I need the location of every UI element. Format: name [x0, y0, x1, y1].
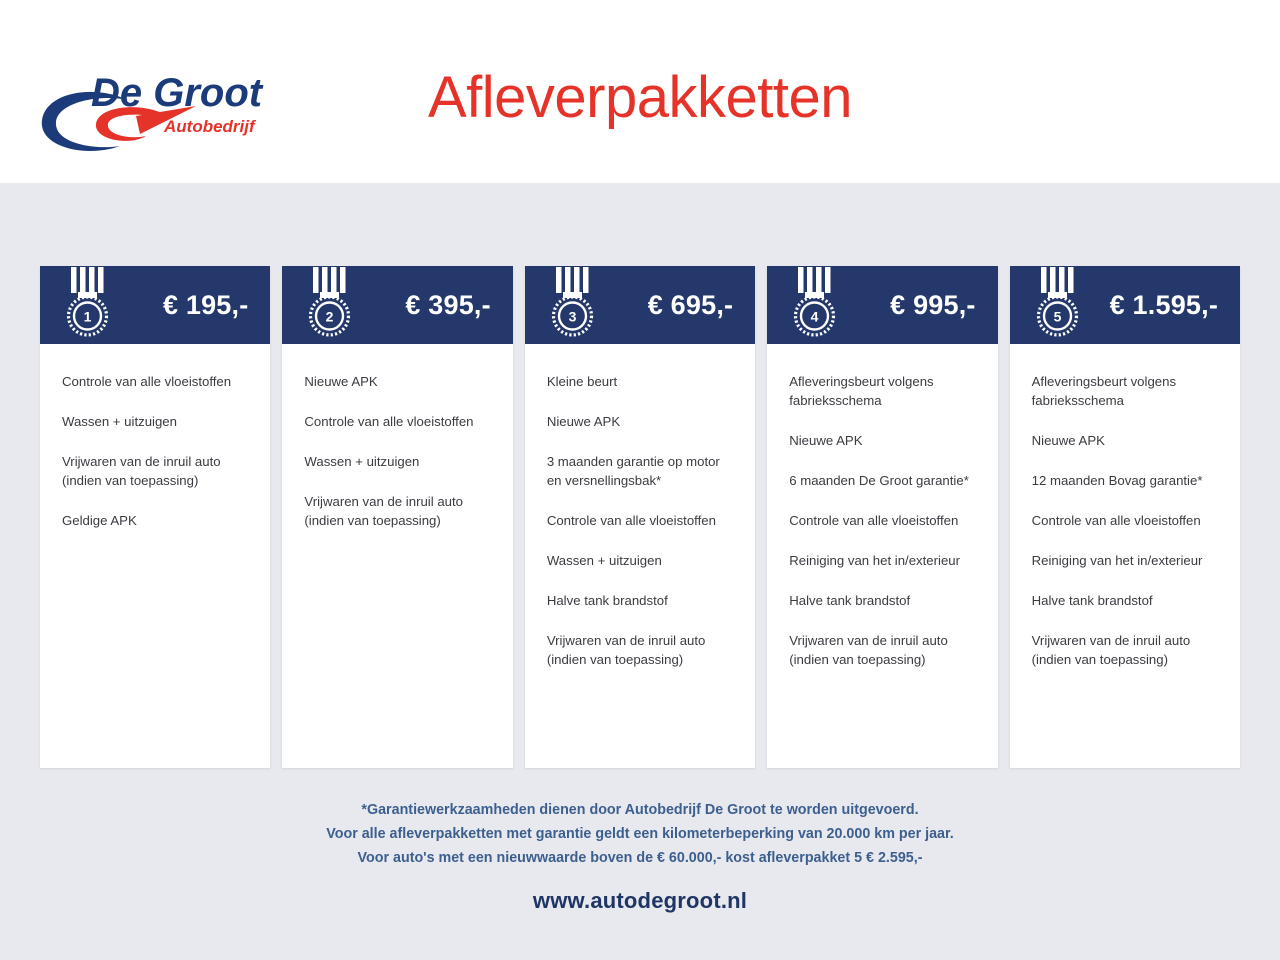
medal-rank-label: 2 — [326, 309, 334, 325]
feature-item: Wassen + uitzuigen — [547, 551, 733, 570]
feature-item: Vrijwaren van de inruil auto (indien van… — [1032, 631, 1218, 669]
feature-item: Controle van alle vloeistoffen — [789, 511, 975, 530]
medal-rank-label: 4 — [811, 309, 819, 325]
feature-item: Halve tank brandstof — [1032, 591, 1218, 610]
website-link[interactable]: www.autodegroot.nl — [0, 888, 1280, 914]
package-features: Afleveringsbeurt volgens fabrieksschema … — [767, 344, 997, 768]
package-card[interactable]: 4 € 995,- Afleveringsbeurt volgens fabri… — [767, 266, 997, 768]
medal-icon: 3 — [543, 261, 605, 343]
feature-item: Kleine beurt — [547, 372, 733, 391]
feature-item: 6 maanden De Groot garantie* — [789, 471, 975, 490]
package-card[interactable]: 1 € 195,- Controle van alle vloeistoffen… — [40, 266, 270, 768]
package-features: Nieuwe APK Controle van alle vloeistoffe… — [282, 344, 512, 768]
feature-item: Controle van alle vloeistoffen — [62, 372, 248, 391]
feature-item: Vrijwaren van de inruil auto (indien van… — [62, 452, 248, 490]
feature-item: Wassen + uitzuigen — [62, 412, 248, 431]
feature-item: Afleveringsbeurt volgens fabrieksschema — [1032, 372, 1218, 410]
feature-item: Reiniging van het in/exterieur — [1032, 551, 1218, 570]
feature-item: Wassen + uitzuigen — [304, 452, 490, 471]
feature-item: Halve tank brandstof — [547, 591, 733, 610]
medal-rank-label: 5 — [1053, 309, 1061, 325]
feature-item: Controle van alle vloeistoffen — [304, 412, 490, 431]
medal-icon: 5 — [1028, 261, 1090, 343]
feature-item: Vrijwaren van de inruil auto (indien van… — [789, 631, 975, 669]
footnote-line: *Garantiewerkzaamheden dienen door Autob… — [0, 798, 1280, 822]
package-cards: 1 € 195,- Controle van alle vloeistoffen… — [40, 266, 1240, 768]
package-header: 1 € 195,- — [40, 266, 270, 344]
feature-item: Geldige APK — [62, 511, 248, 530]
feature-item: Nieuwe APK — [304, 372, 490, 391]
footnote-line: Voor alle afleverpakketten met garantie … — [0, 822, 1280, 846]
footnotes: *Garantiewerkzaamheden dienen door Autob… — [0, 798, 1280, 870]
feature-item: Vrijwaren van de inruil auto (indien van… — [304, 492, 490, 530]
medal-icon: 2 — [300, 261, 362, 343]
feature-item: Reiniging van het in/exterieur — [789, 551, 975, 570]
footnote-line: Voor auto's met een nieuwwaarde boven de… — [0, 846, 1280, 870]
feature-item: Vrijwaren van de inruil auto (indien van… — [547, 631, 733, 669]
package-features: Controle van alle vloeistoffen Wassen + … — [40, 344, 270, 768]
poster-page: De Groot Autobedrijf Afleverpakketten — [0, 0, 1280, 960]
package-card[interactable]: 2 € 395,- Nieuwe APK Controle van alle v… — [282, 266, 512, 768]
feature-item: 12 maanden Bovag garantie* — [1032, 471, 1218, 490]
package-header: 4 € 995,- — [767, 266, 997, 344]
package-features: Afleveringsbeurt volgens fabrieksschema … — [1010, 344, 1240, 768]
feature-item: Nieuwe APK — [789, 431, 975, 450]
medal-icon: 4 — [785, 261, 847, 343]
package-features: Kleine beurt Nieuwe APK 3 maanden garant… — [525, 344, 755, 768]
package-card[interactable]: 3 € 695,- Kleine beurt Nieuwe APK 3 maan… — [525, 266, 755, 768]
medal-icon: 1 — [58, 261, 120, 343]
feature-item: Afleveringsbeurt volgens fabrieksschema — [789, 372, 975, 410]
medal-rank-label: 3 — [568, 309, 576, 325]
feature-item: Controle van alle vloeistoffen — [1032, 511, 1218, 530]
feature-item: 3 maanden garantie op motor en versnelli… — [547, 452, 733, 490]
medal-rank-label: 1 — [84, 309, 92, 325]
feature-item: Nieuwe APK — [1032, 431, 1218, 450]
page-title: Afleverpakketten — [0, 58, 1280, 138]
feature-item: Halve tank brandstof — [789, 591, 975, 610]
header-band: De Groot Autobedrijf Afleverpakketten — [0, 0, 1280, 183]
feature-item: Nieuwe APK — [547, 412, 733, 431]
package-header: 5 € 1.595,- — [1010, 266, 1240, 344]
package-card[interactable]: 5 € 1.595,- Afleveringsbeurt volgens fab… — [1010, 266, 1240, 768]
package-header: 3 € 695,- — [525, 266, 755, 344]
feature-item: Controle van alle vloeistoffen — [547, 511, 733, 530]
package-header: 2 € 395,- — [282, 266, 512, 344]
